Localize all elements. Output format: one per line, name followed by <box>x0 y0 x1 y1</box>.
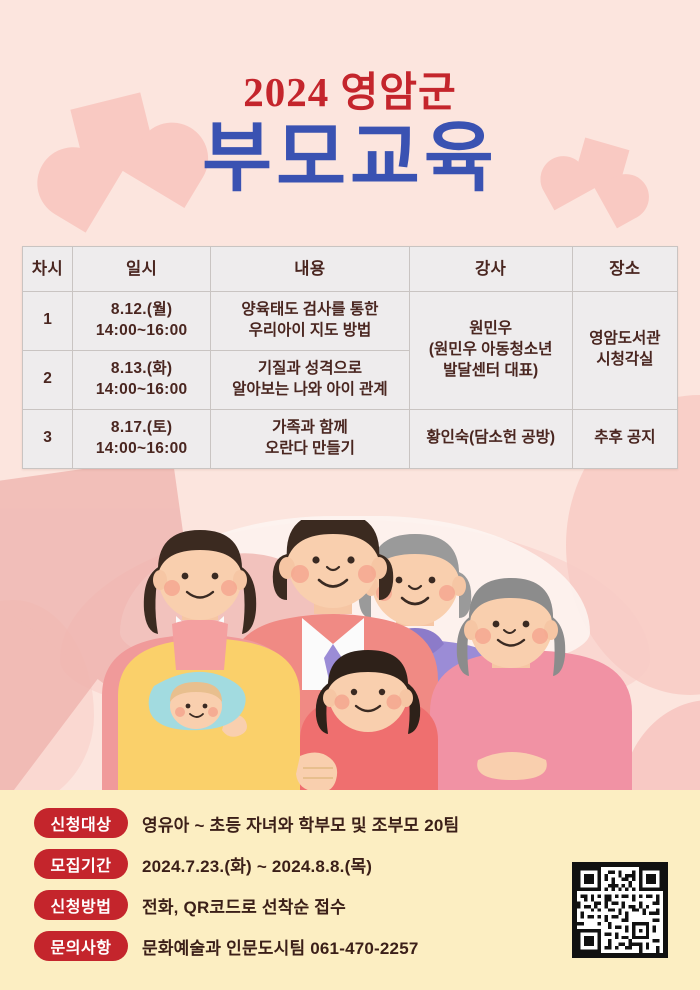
cell-instructor-merged: 원민우 (원민우 아동청소년 발달센터 대표) <box>409 292 572 410</box>
title-year: 2024 영암군 <box>0 72 700 113</box>
badge-recruit-period: 모집기간 <box>34 849 128 879</box>
badge-application-method: 신청방법 <box>34 890 128 920</box>
info-text-inquiry: 문화예술과 인문도시팀 061-470-2257 <box>142 934 419 959</box>
table-header-no: 차시 <box>23 247 73 292</box>
table-header-instructor: 강사 <box>409 247 572 292</box>
datetime-line-2: 14:00~16:00 <box>77 380 206 401</box>
table-header-datetime: 일시 <box>73 247 211 292</box>
info-list: 신청대상 영유아 ~ 초등 자녀와 학부모 및 조부모 20팀 모집기간 202… <box>34 808 524 972</box>
mother-figure <box>102 530 300 792</box>
cell-datetime: 8.13.(화) 14:00~16:00 <box>73 350 211 409</box>
family-illustration <box>0 520 700 792</box>
cell-place-merged: 영암도서관 시청각실 <box>572 292 677 410</box>
title-main: 부모교육 <box>0 119 700 199</box>
datetime-line-1: 8.17.(토) <box>77 418 206 439</box>
cell-content: 가족과 함께 오란다 만들기 <box>211 409 409 468</box>
cell-session-no: 1 <box>23 292 73 351</box>
qr-code[interactable] <box>572 862 668 958</box>
datetime-line-1: 8.13.(화) <box>77 359 206 380</box>
info-row-inquiry: 문의사항 문화예술과 인문도시팀 061-470-2257 <box>34 931 524 961</box>
table-header-row: 차시 일시 내용 강사 장소 <box>23 247 678 292</box>
content-line-1: 기질과 성격으로 <box>215 359 404 380</box>
bottom-info-band: 신청대상 영유아 ~ 초등 자녀와 학부모 및 조부모 20팀 모집기간 202… <box>0 790 700 990</box>
info-text-application-target: 영유아 ~ 초등 자녀와 학부모 및 조부모 20팀 <box>142 811 459 836</box>
cell-content: 기질과 성격으로 알아보는 나와 아이 관계 <box>211 350 409 409</box>
qr-code-icon <box>577 867 663 953</box>
instructor-line-1: 원민우 <box>414 319 568 340</box>
datetime-line-1: 8.12.(월) <box>77 300 206 321</box>
cell-datetime: 8.17.(토) 14:00~16:00 <box>73 409 211 468</box>
cell-instructor: 황인숙(담소헌 공방) <box>409 409 572 468</box>
table-header-content: 내용 <box>211 247 409 292</box>
badge-application-target: 신청대상 <box>34 808 128 838</box>
content-line-2: 우리아이 지도 방법 <box>215 321 404 342</box>
schedule-table: 차시 일시 내용 강사 장소 1 8.12.(월) 14:00~16:00 양육… <box>22 246 678 469</box>
content-line-1: 가족과 함께 <box>215 418 404 439</box>
content-line-2: 오란다 만들기 <box>215 439 404 460</box>
cell-content: 양육태도 검사를 통한 우리아이 지도 방법 <box>211 292 409 351</box>
table-row: 1 8.12.(월) 14:00~16:00 양육태도 검사를 통한 우리아이 … <box>23 292 678 351</box>
instructor-line-3: 발달센터 대표) <box>414 361 568 382</box>
place-line-2: 시청각실 <box>577 350 673 371</box>
poster-root: 2024 영암군 부모교육 차시 일시 내용 강사 장소 1 <box>0 0 700 990</box>
cell-place: 추후 공지 <box>572 409 677 468</box>
poster-title-block: 2024 영암군 부모교육 <box>0 72 700 199</box>
cell-session-no: 2 <box>23 350 73 409</box>
info-text-application-method: 전화, QR코드로 선착순 접수 <box>142 893 346 918</box>
datetime-line-2: 14:00~16:00 <box>77 439 206 460</box>
badge-inquiry: 문의사항 <box>34 931 128 961</box>
cell-session-no: 3 <box>23 409 73 468</box>
info-row-period: 모집기간 2024.7.23.(화) ~ 2024.8.8.(목) <box>34 849 524 879</box>
content-line-1: 양육태도 검사를 통한 <box>215 300 404 321</box>
datetime-line-2: 14:00~16:00 <box>77 321 206 342</box>
info-row-target: 신청대상 영유아 ~ 초등 자녀와 학부모 및 조부모 20팀 <box>34 808 524 838</box>
place-line-1: 영암도서관 <box>577 329 673 350</box>
table-row: 3 8.17.(토) 14:00~16:00 가족과 함께 오란다 만들기 황인… <box>23 409 678 468</box>
content-line-2: 알아보는 나와 아이 관계 <box>215 380 404 401</box>
info-text-recruit-period: 2024.7.23.(화) ~ 2024.8.8.(목) <box>142 852 372 877</box>
schedule-table-wrapper: 차시 일시 내용 강사 장소 1 8.12.(월) 14:00~16:00 양육… <box>22 246 678 469</box>
table-header-place: 장소 <box>572 247 677 292</box>
instructor-line-2: (원민우 아동청소년 <box>414 340 568 361</box>
cell-datetime: 8.12.(월) 14:00~16:00 <box>73 292 211 351</box>
info-row-method: 신청방법 전화, QR코드로 선착순 접수 <box>34 890 524 920</box>
